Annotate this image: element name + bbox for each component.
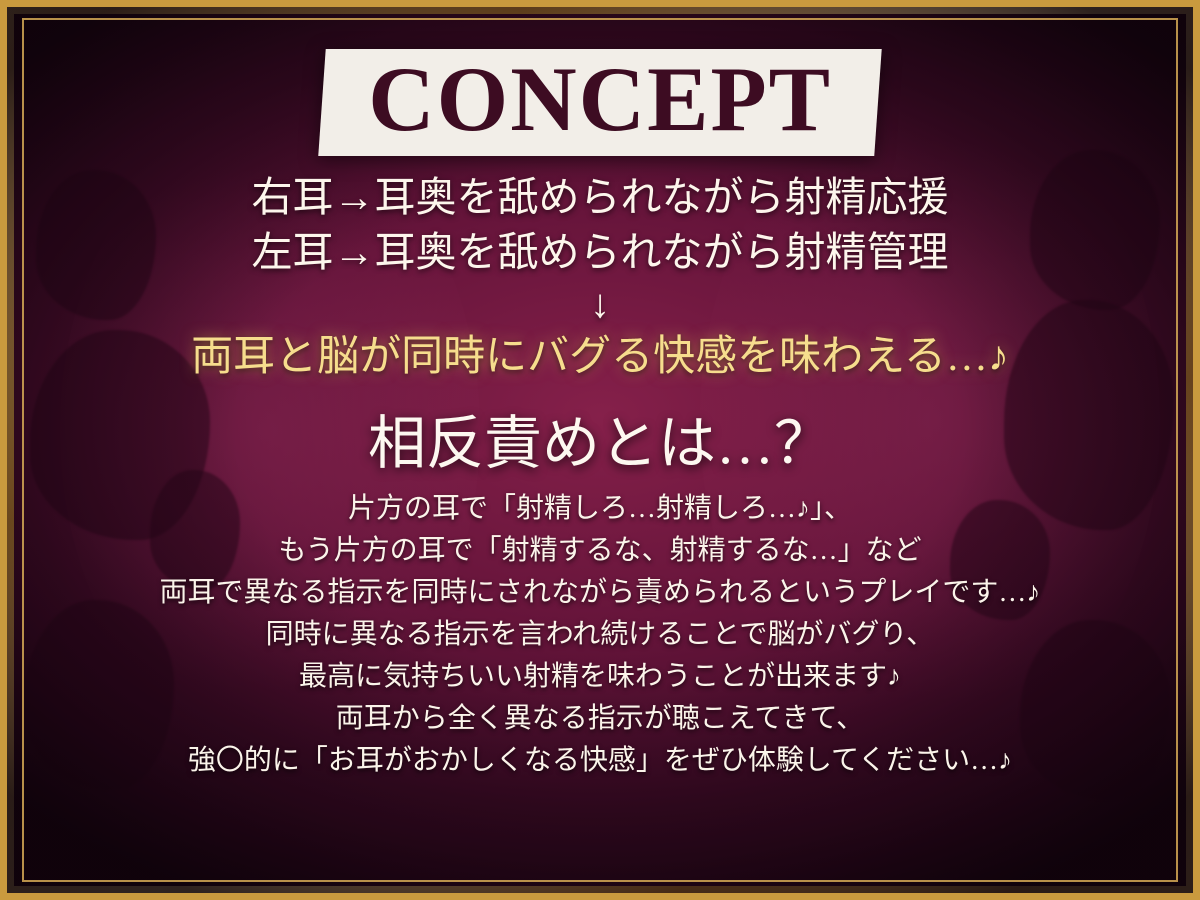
highlight-text: 両耳と脳が同時にバグる快感を味わえる…♪ <box>191 330 1009 385</box>
body-line: 最高に気持ちいい射精を味わうことが出来ます♪ <box>160 656 1041 698</box>
slide-content: CONCEPT 右耳→耳奥を舐められながら射精応援 左耳→耳奥を舐められながら射… <box>7 7 1193 893</box>
lead-line-left-ear: 左耳→耳奥を舐められながら射精管理 <box>252 225 949 280</box>
body-line: 両耳で異なる指示を同時にされながら責められるというプレイです…♪ <box>160 572 1041 614</box>
page-title: CONCEPT <box>368 51 832 148</box>
body-copy: 片方の耳で「射精しろ…射精しろ…♪」、 もう片方の耳で「射精するな、射精するな…… <box>160 488 1041 782</box>
concept-slide: CONCEPT 右耳→耳奥を舐められながら射精応援 左耳→耳奥を舐められながら射… <box>0 0 1200 900</box>
body-line: 強〇的に「お耳がおかしくなる快感」をぜひ体験してください…♪ <box>160 740 1041 782</box>
body-line: 片方の耳で「射精しろ…射精しろ…♪」、 <box>160 488 1041 530</box>
body-line: 同時に異なる指示を言われ続けることで脳がバグり、 <box>160 614 1041 656</box>
lead-line-right-ear: 右耳→耳奥を舐められながら射精応援 <box>252 170 949 225</box>
body-line: もう片方の耳で「射精するな、射精するな…」など <box>160 530 1041 572</box>
body-line: 両耳から全く異なる指示が聴こえてきて、 <box>160 698 1041 740</box>
section-heading: 相反責めとは…？ <box>368 411 832 478</box>
title-banner: CONCEPT <box>318 49 881 156</box>
lead-block: 右耳→耳奥を舐められながら射精応援 左耳→耳奥を舐められながら射精管理 <box>252 170 949 281</box>
down-arrow-icon: ↓ <box>590 282 610 326</box>
